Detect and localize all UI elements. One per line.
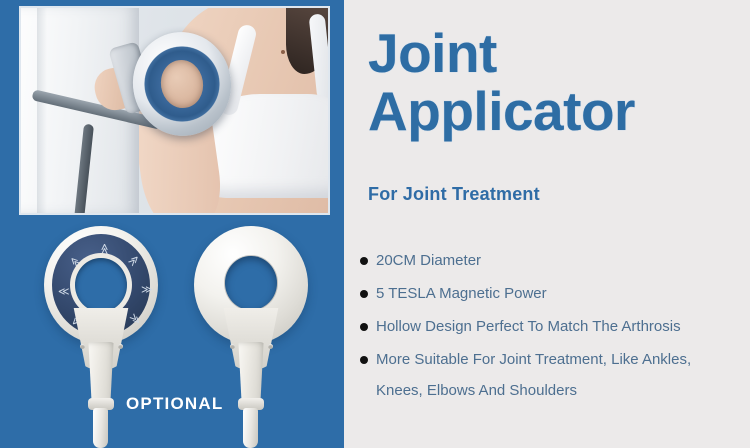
feature-list: 20CM Diameter 5 TESLA Magnetic Power Hol… — [358, 250, 744, 413]
list-item-text: Hollow Design Perfect To Match The Arthr… — [376, 318, 681, 335]
applicator-pin — [80, 344, 85, 349]
list-item: 20CM Diameter — [358, 250, 744, 271]
right-content-panel: Joint Applicator For Joint Treatment 20C… — [344, 0, 750, 448]
bullet-dot-icon — [360, 323, 368, 331]
photo-scene — [21, 8, 328, 213]
applicator-pin — [268, 344, 273, 349]
list-item-text: 5 TESLA Magnetic Power — [376, 285, 547, 302]
subtitle: For Joint Treatment — [368, 184, 540, 205]
left-visual-panel: ≫ ≫ ≫ ≫ ≫ ≫ ≫ ≫ — [0, 0, 344, 448]
applicator-stem-standard — [243, 408, 258, 448]
applicator-pin — [118, 344, 123, 349]
list-item-text-wrap: Knees, Elbows And Shoulders — [376, 380, 744, 401]
list-item-text: 20CM Diameter — [376, 252, 481, 269]
skin-mark — [281, 50, 285, 54]
list-item: More Suitable For Joint Treatment, Like … — [358, 349, 744, 401]
title-line-2: Applicator — [368, 82, 740, 140]
list-item-text: More Suitable For Joint Treatment, Like … — [376, 351, 691, 368]
applicator-bore-standard — [225, 256, 277, 310]
optional-label: OPTIONAL — [126, 394, 223, 414]
bullet-dot-icon — [360, 356, 368, 364]
list-item: Hollow Design Perfect To Match The Arthr… — [358, 316, 744, 337]
device-showcase: ≫ ≫ ≫ ≫ ≫ ≫ ≫ ≫ — [0, 222, 344, 448]
product-banner: ≫ ≫ ≫ ≫ ≫ ≫ ≫ ≫ — [0, 0, 750, 448]
bullet-dot-icon — [360, 257, 368, 265]
applicator-pin — [230, 344, 235, 349]
clinical-treatment-photo — [19, 6, 330, 215]
title-line-1: Joint — [368, 24, 740, 82]
bullet-dot-icon — [360, 290, 368, 298]
applicator-bore-optional — [75, 258, 127, 312]
list-item: 5 TESLA Magnetic Power — [358, 283, 744, 304]
page-title: Joint Applicator — [368, 24, 740, 140]
applicator-stem-optional — [93, 408, 108, 448]
